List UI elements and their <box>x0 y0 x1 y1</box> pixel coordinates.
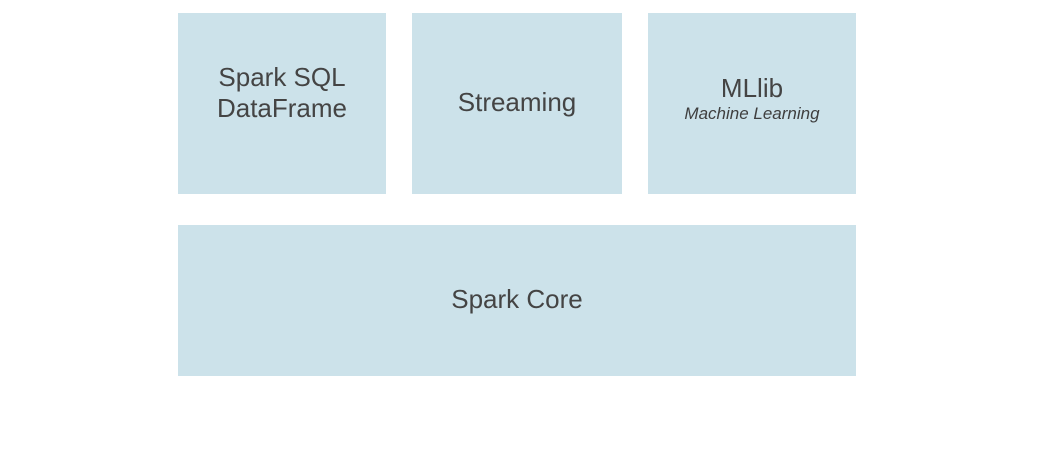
mllib-label: MLlib <box>684 73 819 104</box>
component-box-spark-core: Spark Core <box>178 225 856 376</box>
streaming-label-group: Streaming <box>458 87 577 118</box>
component-box-spark-sql: Spark SQL DataFrame <box>178 13 386 194</box>
component-box-mllib: MLlib Machine Learning <box>648 13 856 194</box>
spark-core-label-group: Spark Core <box>451 284 583 315</box>
spark-stack-diagram: Spark SQL DataFrame Streaming MLlib Mach… <box>0 0 1053 457</box>
component-box-streaming: Streaming <box>412 13 622 194</box>
spark-sql-label-group: Spark SQL DataFrame <box>217 62 347 123</box>
mllib-label-group: MLlib Machine Learning <box>684 73 819 125</box>
streaming-label: Streaming <box>458 87 577 118</box>
mllib-subtitle: Machine Learning <box>684 104 819 123</box>
spark-sql-label-line-1: Spark SQL <box>217 62 347 93</box>
spark-core-label: Spark Core <box>451 284 583 315</box>
spark-sql-label-line-2: DataFrame <box>217 93 347 124</box>
